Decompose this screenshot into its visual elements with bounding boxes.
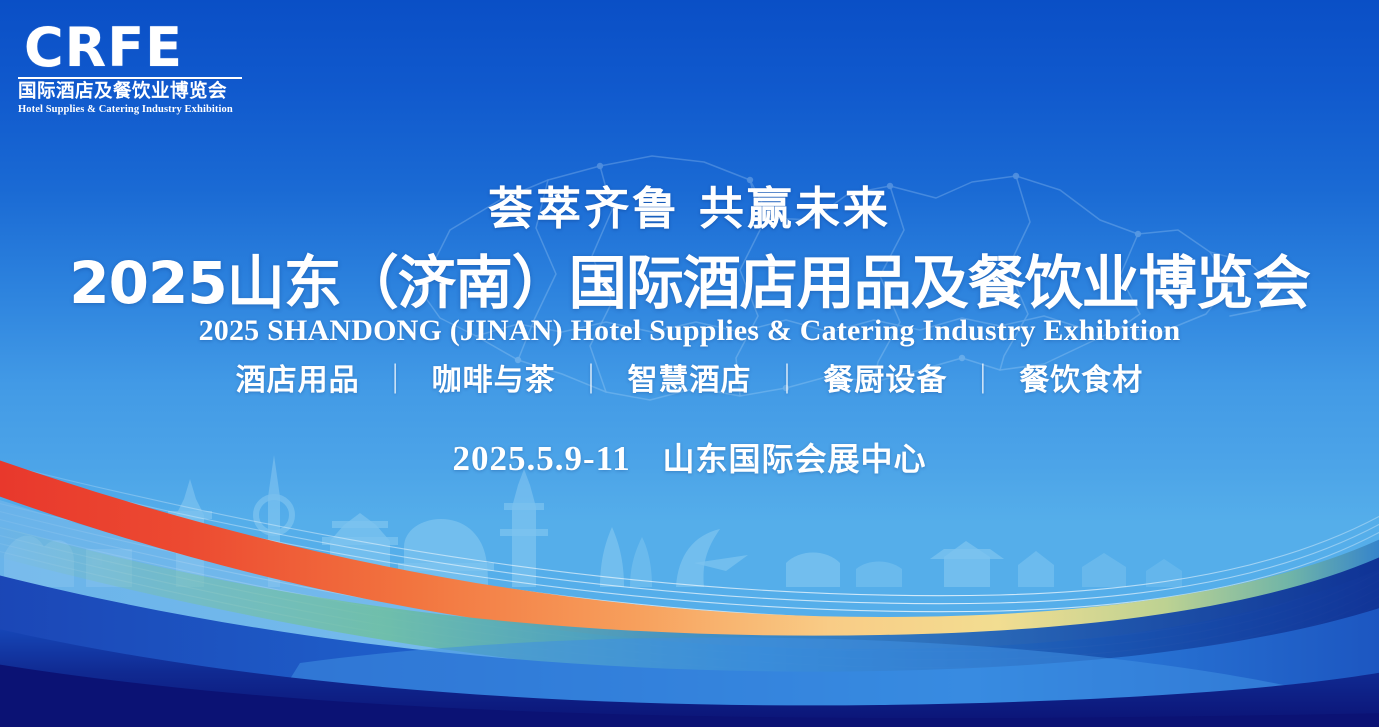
logo-wordmark: CRFE [16,22,256,73]
city-skyline-silhouette [0,437,1379,587]
category-item-4: 餐饮食材 [1019,363,1143,398]
event-info: 2025.5.9-11 山东国际会展中心 [0,438,1379,480]
tagline: 荟萃齐鲁 共赢未来 [0,186,1379,231]
category-item-3: 餐厨设备 [823,363,947,398]
province-map-background [300,70,1320,470]
category-item-1: 咖啡与茶 [432,363,556,398]
crfe-logo[interactable]: CRFE 国际酒店及餐饮业博览会 Hotel Supplies & Cateri… [16,22,256,117]
logo-name-chinese: 国际酒店及餐饮业博览会 [16,82,256,102]
category-list: 酒店用品 ｜ 咖啡与茶 ｜ 智慧酒店 ｜ 餐厨设备 ｜ 餐饮食材 [0,362,1379,400]
event-venue: 山东国际会展中心 [640,440,926,478]
category-separator-1: ｜ [567,363,616,398]
category-item-2: 智慧酒店 [628,363,752,398]
category-separator-0: ｜ [371,363,420,398]
category-separator-2: ｜ [763,363,812,398]
logo-name-english: Hotel Supplies & Catering Industry Exhib… [16,103,256,117]
title-english: 2025 SHANDONG (JINAN) Hotel Supplies & C… [0,314,1379,347]
event-dates: 2025.5.9-11 [453,439,631,478]
exhibition-banner: CRFE 国际酒店及餐饮业博览会 Hotel Supplies & Cateri… [0,0,1379,727]
wave-graphic [0,427,1379,727]
category-separator-3: ｜ [959,363,1008,398]
category-item-0: 酒店用品 [236,363,360,398]
title-chinese: 2025山东（济南）国际酒店用品及餐饮业博览会 [0,253,1379,314]
